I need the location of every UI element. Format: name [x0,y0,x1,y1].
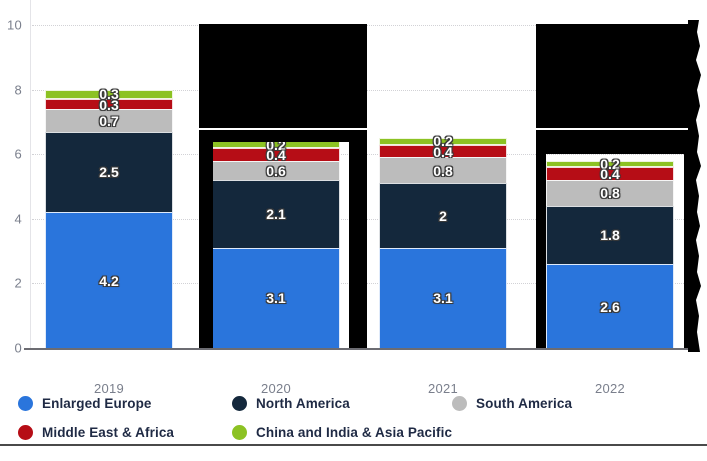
bar-value-label: 2.5 [99,164,118,180]
chart-legend: Enlarged Europe North America South Amer… [0,392,707,446]
legend-label: Enlarged Europe [42,396,152,411]
bar-segment-middle-east-africa[interactable]: 0.4 [379,145,507,158]
bar-value-label: 0.6 [266,163,285,179]
y-axis-line [30,0,31,350]
y-tick-label: 8 [14,82,22,97]
legend-dot-icon [452,396,467,411]
bar-value-label: 3.1 [433,290,452,306]
bar-value-label: 0.3 [99,97,118,113]
bar-segment-south-america[interactable]: 0.8 [379,157,507,183]
bar-value-label: 2 [439,208,447,224]
bar-value-label: 2.1 [266,206,285,222]
redaction-block-left-middle [199,142,213,348]
bar-segment-north-america[interactable]: 2.1 [212,180,340,248]
legend-item-south-america[interactable]: South America [452,396,572,411]
legend-label: North America [256,396,350,411]
bar-segment-south-america[interactable]: 0.7 [45,109,173,132]
bar-value-label: 0.4 [600,166,619,182]
bar-segment-middle-east-africa[interactable]: 0.4 [546,167,674,180]
legend-label: Middle East & Africa [42,425,174,440]
y-tick-label: 4 [14,211,22,226]
legend-dot-icon [18,425,33,440]
legend-label: South America [476,396,572,411]
bar-segment-enlarged-europe[interactable]: 2.6 [546,264,674,348]
redaction-block-left-right [536,154,546,348]
bar-value-label: 0.8 [600,185,619,201]
bar-value-label: 2.6 [600,299,619,315]
bar-value-label: 0.4 [433,144,452,160]
y-tick-label: 2 [14,276,22,291]
bar-value-label: 4.2 [99,273,118,289]
legend-item-north-america[interactable]: North America [232,396,350,411]
bar-value-label: 0.4 [266,147,285,163]
redaction-block-mid-middle [199,130,367,142]
bar-group-2022[interactable]: 0.2 0.4 0.8 1.8 2.6 [546,161,674,348]
bar-value-label: 0.8 [433,163,452,179]
legend-label: China and India & Asia Pacific [256,425,452,440]
bar-segment-middle-east-africa[interactable]: 0.4 [212,148,340,161]
bar-group-2021[interactable]: 0.2 0.4 0.8 2 3.1 [379,138,507,348]
legend-dot-icon [18,396,33,411]
bar-group-2020[interactable]: 0.2 0.4 0.6 2.1 3.1 [212,141,340,348]
bar-segment-north-america[interactable]: 2.5 [45,132,173,213]
legend-dot-icon [232,425,247,440]
redaction-block-mid-right [536,130,696,154]
bar-value-label: 0.7 [99,113,118,129]
bar-segment-middle-east-africa[interactable]: 0.3 [45,99,173,109]
bar-segment-enlarged-europe[interactable]: 3.1 [379,248,507,348]
redaction-block-upper-middle [199,24,367,128]
y-tick-label: 6 [14,147,22,162]
y-tick-label: 0 [14,341,22,356]
bar-segment-enlarged-europe[interactable]: 3.1 [212,248,340,348]
legend-bottom-rule [0,444,707,446]
redaction-block-right-middle [349,142,367,348]
y-tick-label: 10 [7,18,22,33]
legend-item-enlarged-europe[interactable]: Enlarged Europe [18,396,152,411]
bar-segment-south-america[interactable]: 0.8 [546,180,674,206]
bar-segment-enlarged-europe[interactable]: 4.2 [45,212,173,348]
bar-value-label: 1.8 [600,227,619,243]
bar-value-label: 3.1 [266,290,285,306]
stacked-bar-chart: 10 8 6 4 2 0 0.3 0.3 0.7 2.5 4.2 [0,0,707,461]
bar-segment-north-america[interactable]: 1.8 [546,206,674,264]
redaction-ragged-edge [688,20,707,352]
x-axis-baseline [24,348,696,350]
legend-item-china-india-asia-pacific[interactable]: China and India & Asia Pacific [232,425,452,440]
legend-dot-icon [232,396,247,411]
bar-segment-north-america[interactable]: 2 [379,183,507,248]
redaction-block-upper-right [536,24,696,128]
legend-item-middle-east-africa[interactable]: Middle East & Africa [18,425,174,440]
bar-group-2019[interactable]: 0.3 0.3 0.7 2.5 4.2 [45,90,173,348]
bar-segment-south-america[interactable]: 0.6 [212,161,340,180]
